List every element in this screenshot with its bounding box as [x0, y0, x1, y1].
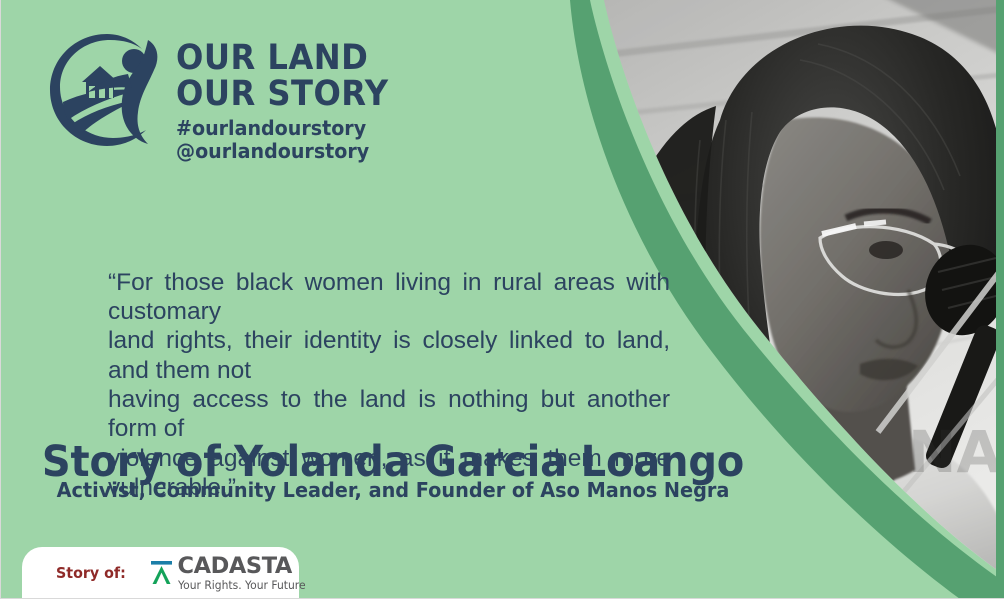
quote-line: “For those black women living in rural a… [108, 268, 670, 327]
brand-wordmark: OUR LAND OUR STORY #ourlandourstory @our… [176, 28, 407, 163]
story-subtitle: Activist, Community Leader, and Founder … [24, 478, 763, 502]
page-edge-left [0, 0, 1, 599]
quote-line: land rights, their identity is closely l… [108, 326, 670, 385]
brand-line-2: OUR STORY [176, 76, 389, 112]
cadasta-logo-mark-icon [150, 560, 173, 585]
right-edge-strip [996, 0, 1004, 599]
cadasta-name: CADASTA [178, 555, 311, 578]
brand-logo-block: OUR LAND OUR STORY #ourlandourstory @our… [48, 28, 407, 163]
story-of-label: Story of: [56, 564, 126, 582]
our-land-our-story-emblem-icon [48, 30, 166, 148]
story-card: NA [0, 0, 1004, 599]
brand-line-1: OUR LAND [176, 40, 389, 76]
cadasta-wordmark: CADASTA Your Rights. Your Future [178, 555, 311, 592]
brand-hashtag: #ourlandourstory [176, 117, 391, 140]
quote-line: having access to the land is nothing but… [108, 385, 670, 444]
cadasta-logo: CADASTA Your Rights. Your Future [150, 555, 311, 592]
story-of-badge: Story of: CADASTA Your Rights. Your Futu… [22, 547, 299, 599]
cadasta-tagline: Your Rights. Your Future [178, 580, 306, 591]
brand-handle: @ourlandourstory [176, 140, 391, 163]
